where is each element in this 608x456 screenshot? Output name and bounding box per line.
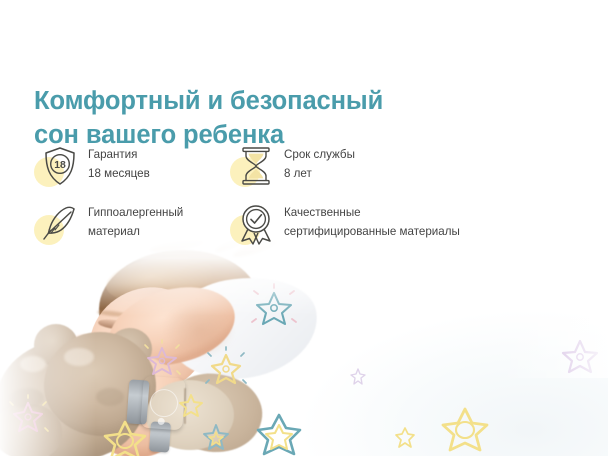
- star-doodle: [434, 402, 496, 456]
- star-doodle: [558, 334, 602, 378]
- star-doodle: [176, 390, 206, 420]
- star-doodle: [144, 342, 180, 378]
- promo-banner: Комфортный и безопасный сон вашего ребен…: [0, 0, 608, 456]
- shield-18-icon: 18: [41, 145, 79, 187]
- feature-icon-wrap: 18: [34, 143, 78, 189]
- star-doodle: [252, 286, 296, 330]
- feature-text: Гиппоалергенный материал: [88, 201, 183, 242]
- feature-warranty: 18 Гарантия 18 месяцев: [34, 143, 230, 201]
- feature-text: Качественные сертифицированные материалы: [284, 201, 460, 242]
- feature-grid: 18 Гарантия 18 месяцев: [34, 143, 574, 247]
- fur-shadow: [96, 388, 124, 406]
- star-doodle: [206, 348, 246, 388]
- feature-icon-wrap: [34, 201, 78, 247]
- star-doodle: [348, 366, 368, 386]
- feature-lifespan: Срок службы 8 лет: [230, 143, 520, 201]
- headline-line-1: Комфортный и безопасный: [34, 85, 454, 119]
- feature-hypoallergenic: Гиппоалергенный материал: [34, 201, 230, 247]
- star-doodle: [250, 408, 308, 456]
- feature-icon-wrap: [230, 143, 274, 189]
- feature-icon-wrap: [230, 201, 274, 247]
- feature-label-line2: 8 лет: [284, 165, 355, 184]
- feature-label-line1: Качественные: [284, 204, 460, 223]
- fur-highlight: [20, 356, 46, 372]
- hourglass-icon: [237, 145, 275, 187]
- watch-button: [157, 418, 164, 425]
- feature-label-line1: Гарантия: [88, 146, 150, 165]
- feature-text: Гарантия 18 месяцев: [88, 143, 150, 184]
- feature-label-line1: Гиппоалергенный: [88, 204, 183, 223]
- photo-canvas: [0, 238, 608, 456]
- feature-label-line2: сертифицированные материалы: [284, 223, 460, 242]
- star-doodle: [8, 396, 48, 436]
- feature-label-line2: материал: [88, 223, 183, 242]
- star-doodle: [96, 414, 154, 456]
- award-check-icon: [237, 203, 275, 245]
- content-area: Комфортный и безопасный сон вашего ребен…: [0, 0, 608, 270]
- feature-label-line1: Срок службы: [284, 146, 355, 165]
- feature-label-line2: 18 месяцев: [88, 165, 150, 184]
- fur-highlight: [64, 348, 94, 366]
- star-doodle: [392, 424, 418, 450]
- shield-badge-number: 18: [54, 160, 66, 171]
- feature-certified: Качественные сертифицированные материалы: [230, 201, 520, 247]
- feather-icon: [41, 203, 79, 245]
- star-doodle: [200, 420, 232, 452]
- feature-text: Срок службы 8 лет: [284, 143, 355, 184]
- hero-photo: [0, 238, 608, 456]
